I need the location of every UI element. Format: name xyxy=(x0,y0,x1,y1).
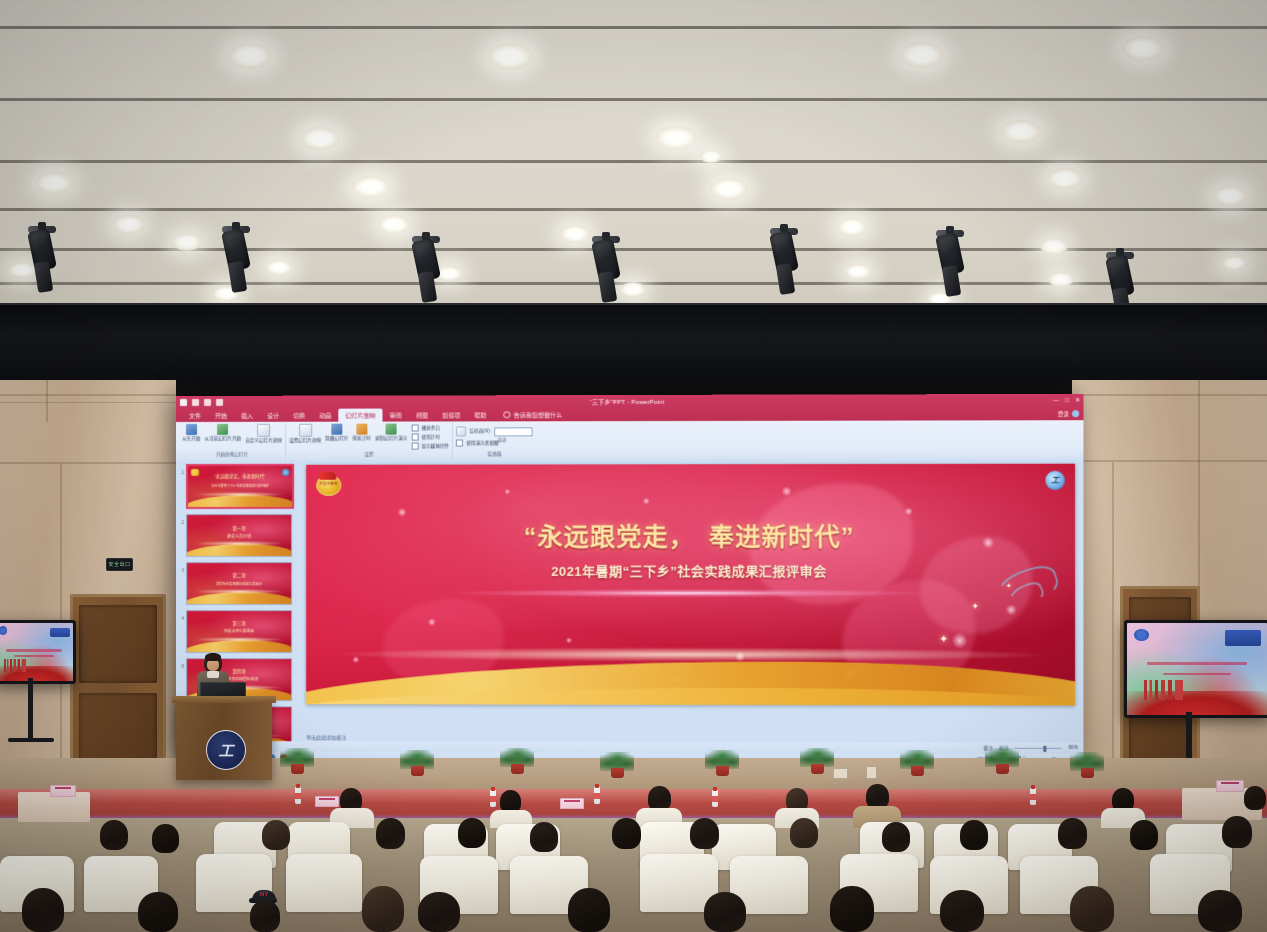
thumbnail-line2: 2021年暑期“三下乡”社会实践成果汇报评审会 xyxy=(192,484,288,488)
slide-thumbnail-2[interactable]: 第一项 参会人员介绍 xyxy=(186,514,292,557)
group-label-monitors: 监视器 xyxy=(487,451,501,457)
document-title: “三下乡”PPT - PowerPoint xyxy=(176,396,1083,407)
audience-head xyxy=(1058,818,1087,849)
play-from-current-label: 从当前幻灯片开始 xyxy=(204,436,241,441)
thumbnail-number: 1 xyxy=(178,464,184,475)
avatar[interactable] xyxy=(1072,410,1079,417)
tab-help[interactable]: 帮助 xyxy=(467,408,493,421)
ceiling-downlight xyxy=(266,260,292,275)
side-display-left-screen xyxy=(0,623,73,681)
lightbulb-icon xyxy=(503,411,510,418)
window-buttons[interactable]: — □ ✕ xyxy=(1053,397,1080,404)
checkbox-box[interactable] xyxy=(411,425,418,432)
podium-emblem-text: 工 xyxy=(218,740,233,761)
custom-show-button[interactable]: 自定义幻灯片放映 xyxy=(245,424,282,443)
audience-head xyxy=(704,892,746,932)
audience-head xyxy=(250,900,280,932)
water-bottle xyxy=(712,790,718,807)
side-display-right-stand xyxy=(1186,712,1192,764)
audience-head xyxy=(262,820,290,850)
podium: 工 xyxy=(176,700,272,780)
thumbnail-row[interactable]: 3 第二项 学院专业实践团队成果汇报展示 xyxy=(178,562,300,605)
university-logo-icon: 工 xyxy=(1045,471,1064,490)
podium-top xyxy=(172,696,276,703)
audience-head xyxy=(882,822,910,852)
audience-head xyxy=(1130,820,1158,850)
auditorium-photo: 安全出口 xyxy=(0,0,1267,932)
ceiling-downlight xyxy=(620,282,646,297)
wall-socket xyxy=(833,768,848,779)
tab-animations[interactable]: 动画 xyxy=(312,409,338,422)
checkbox-show-media-controls[interactable]: 显示媒体控件 xyxy=(411,443,449,450)
tab-review[interactable]: 审阅 xyxy=(383,408,409,421)
thumbnail-row[interactable]: 4 第三项 评委点评汇报成果 xyxy=(178,610,300,653)
audience-head xyxy=(362,886,404,932)
stage-spotlight xyxy=(412,232,442,310)
thumbnail-number: 4 xyxy=(178,610,184,621)
potted-plant xyxy=(800,748,834,774)
ceiling-downlight xyxy=(700,150,722,163)
audience-head xyxy=(458,818,486,848)
potted-plant xyxy=(280,748,314,774)
thumbnail-row[interactable]: 2 第一项 参会人员介绍 xyxy=(178,514,300,557)
custom-show-icon xyxy=(257,424,270,437)
ceiling-downlight xyxy=(35,172,73,194)
wall-socket xyxy=(866,766,877,779)
group-label-start-slideshow: 开始放映幻灯片 xyxy=(216,452,248,458)
presenter-collar xyxy=(207,671,219,678)
wall-left: 安全出口 xyxy=(0,380,176,780)
ceiling-downlight xyxy=(300,127,340,150)
record-slideshow-button[interactable]: 录制幻灯片演示 xyxy=(375,424,407,441)
play-from-start-icon xyxy=(186,424,197,435)
slide-thumbnail-3[interactable]: 第二项 学院专业实践团队成果汇报展示 xyxy=(186,562,292,605)
tab-file[interactable]: 文件 xyxy=(182,409,208,422)
monitor-label: 监视器(M): xyxy=(469,428,491,434)
group-label-setup: 设置 xyxy=(364,452,373,458)
audience-head xyxy=(940,890,984,932)
close-button[interactable]: ✕ xyxy=(1075,397,1080,404)
star-decoration-icon: ✦ xyxy=(971,601,979,612)
thumbnail-number: 5 xyxy=(178,658,184,669)
exit-sign-label: 安全出口 xyxy=(108,561,130,568)
notes-pane[interactable]: 单击此处添加备注 xyxy=(306,726,1075,742)
audience-head xyxy=(22,888,64,932)
tab-home[interactable]: 开始 xyxy=(208,409,234,422)
wall-right xyxy=(1072,380,1267,780)
ppt-workspace: 1 “永远跟党走，奉进新时代” 2021年暑期“三下乡”社会实践成果汇报评审会 … xyxy=(176,459,1083,762)
ceiling-downlight xyxy=(487,43,533,70)
water-bottle xyxy=(1030,788,1036,805)
powerpoint-window: “三下乡”PPT - PowerPoint — □ ✕ 文件 开始 插入 设计 … xyxy=(176,394,1083,762)
play-from-start-label: 从头开始 xyxy=(182,436,200,441)
thumbnail-line1: “永远跟党走，奉进新时代” xyxy=(194,474,286,480)
play-from-current-icon xyxy=(217,424,228,435)
audience-head xyxy=(152,824,179,853)
name-tent xyxy=(315,796,339,807)
ceiling-downlight xyxy=(655,126,697,150)
monitor-select[interactable]: 监视器(M): 自动 xyxy=(456,426,533,436)
checkbox-play-narrations[interactable]: 播放旁白 xyxy=(411,424,449,431)
name-tent xyxy=(50,785,76,797)
side-display-right xyxy=(1124,620,1267,718)
tab-transitions[interactable]: 切换 xyxy=(286,409,312,422)
record-slideshow-icon xyxy=(386,424,397,435)
hide-slide-icon xyxy=(331,424,342,435)
presenter-hair xyxy=(205,653,221,661)
side-display-right-screen xyxy=(1127,623,1267,715)
ribbon-group-start-slideshow: 从头开始 从当前幻灯片开始 自定义幻灯片放映 开始放映幻灯片 xyxy=(179,423,286,459)
potted-plant xyxy=(985,748,1019,774)
ceiling-downlight xyxy=(1122,36,1164,61)
audience-head xyxy=(790,818,818,848)
water-bottle xyxy=(490,790,496,807)
rehearse-timings-label: 排练计时 xyxy=(352,436,370,441)
ceiling-downlight xyxy=(1048,272,1074,287)
university-emblem-icon: 工 xyxy=(206,730,246,770)
tab-design[interactable]: 设计 xyxy=(260,409,286,422)
checkbox-show-media-controls-label: 显示媒体控件 xyxy=(421,443,449,449)
tab-insert[interactable]: 插入 xyxy=(234,409,260,422)
record-slideshow-label: 录制幻灯片演示 xyxy=(375,436,407,441)
slide-thumbnail-1[interactable]: “永远跟党走，奉进新时代” 2021年暑期“三下乡”社会实践成果汇报评审会 xyxy=(186,464,294,509)
audience-head xyxy=(1198,890,1242,932)
thumbnail-line1: 第三项 xyxy=(193,621,285,627)
tab-view[interactable]: 视图 xyxy=(409,408,435,421)
ceiling-downlight xyxy=(1040,238,1068,255)
audience-head xyxy=(138,892,178,932)
ceiling-downlight xyxy=(845,264,871,279)
potted-plant xyxy=(400,750,434,776)
slide-editing-area[interactable]: 中国共青团 工 “永远跟党走， 奉进新时代” 2021年暑期“三下乡”社会实践成… xyxy=(302,459,1083,762)
dark-band-above-screen xyxy=(0,305,1267,383)
audience-head xyxy=(1070,886,1114,932)
audience-head xyxy=(690,818,719,849)
ceiling-downlight xyxy=(1001,120,1041,143)
ceiling-downlight xyxy=(113,215,145,234)
thumbnail-row[interactable]: 1 “永远跟党走，奉进新时代” 2021年暑期“三下乡”社会实践成果汇报评审会 xyxy=(178,464,300,509)
thumbnail-number: 2 xyxy=(178,514,184,525)
thumbnail-line1: 第一项 xyxy=(193,526,285,532)
water-bottle xyxy=(295,787,301,804)
monitor-icon xyxy=(456,426,466,436)
current-slide[interactable]: 中国共青团 工 “永远跟党走， 奉进新时代” 2021年暑期“三下乡”社会实践成… xyxy=(306,464,1075,706)
checkbox-box[interactable] xyxy=(456,439,463,446)
checkbox-use-timings-label: 使用计时 xyxy=(421,434,440,440)
potted-plant xyxy=(1070,752,1104,778)
minimize-button[interactable]: — xyxy=(1053,397,1059,403)
tell-me-box[interactable]: 告诉我您想做什么 xyxy=(503,410,562,419)
emblem-text: 中国共青团 xyxy=(318,482,338,487)
cap-logo-icon: NY xyxy=(260,892,268,898)
checkbox-box[interactable] xyxy=(411,434,418,441)
exit-sign: 安全出口 xyxy=(106,558,133,571)
audience-head xyxy=(530,822,558,852)
thumbnail-line2: 参会人员介绍 xyxy=(191,534,287,540)
play-from-start-button[interactable]: 从头开始 xyxy=(182,424,200,441)
hide-slide-label: 隐藏幻灯片 xyxy=(325,436,348,441)
ceiling-downlight xyxy=(1213,186,1247,206)
led-screen: “三下乡”PPT - PowerPoint — □ ✕ 文件 开始 插入 设计 … xyxy=(176,396,1073,760)
water-bottle xyxy=(594,787,600,804)
checkbox-presenter-view-label: 使用演示者视图 xyxy=(466,440,498,446)
play-from-current-button[interactable]: 从当前幻灯片开始 xyxy=(204,424,241,441)
hide-slide-button[interactable]: 隐藏幻灯片 xyxy=(325,424,348,441)
audience-head xyxy=(612,818,641,849)
stage-spotlight xyxy=(770,224,800,302)
tell-me-label: 告诉我您想做什么 xyxy=(514,410,562,419)
ceiling xyxy=(0,0,1267,312)
slide-headline: “永远跟党走， 奉进新时代” xyxy=(337,517,1044,554)
slide-subtitle: 2021年暑期“三下乡”社会实践成果汇报评审会 xyxy=(337,560,1044,579)
audience-head xyxy=(568,888,610,932)
potted-plant xyxy=(705,750,739,776)
thumbnail-line1: 第二项 xyxy=(193,573,285,579)
audience-head xyxy=(376,818,405,849)
account-area[interactable]: 登录 xyxy=(1058,410,1079,418)
side-display-left-stand xyxy=(28,678,33,740)
potted-plant xyxy=(600,752,634,778)
ceiling-downlight xyxy=(900,42,944,68)
checkbox-play-narrations-label: 播放旁白 xyxy=(421,425,440,431)
ribbon[interactable]: 从头开始 从当前幻灯片开始 自定义幻灯片放映 开始放映幻灯片 xyxy=(176,420,1083,460)
ceiling-downlight xyxy=(710,178,748,200)
thumbnail-line2: 学院专业实践团队成果汇报展示 xyxy=(191,581,287,586)
ceiling-downlight xyxy=(172,233,202,251)
ceiling-downlight xyxy=(378,215,410,234)
audience-head xyxy=(100,820,128,850)
restore-button[interactable]: □ xyxy=(1065,397,1069,403)
rehearse-timings-button[interactable]: 排练计时 xyxy=(352,424,370,441)
checkbox-box[interactable] xyxy=(411,443,418,450)
stage-spotlight xyxy=(222,222,252,300)
audience-head xyxy=(418,892,460,932)
ceiling-downlight xyxy=(560,225,590,243)
name-tent xyxy=(560,798,584,809)
potted-plant xyxy=(500,748,534,774)
star-decoration-icon: ✦ xyxy=(939,633,948,646)
custom-show-label: 自定义幻灯片放映 xyxy=(245,438,282,443)
sign-in-label[interactable]: 登录 xyxy=(1058,410,1069,418)
audience-head xyxy=(1222,816,1252,848)
tab-addins[interactable]: 加载项 xyxy=(435,408,467,421)
side-display-left xyxy=(0,620,76,684)
setup-show-button[interactable]: 设置幻灯片放映 xyxy=(289,424,321,443)
audience-head xyxy=(960,820,988,850)
youth-league-emblem-icon: 中国共青团 xyxy=(315,472,341,494)
side-display-left-foot xyxy=(8,738,54,742)
stage-spotlight xyxy=(28,222,58,300)
audience-head xyxy=(1244,786,1266,810)
zoom-level[interactable]: 66% xyxy=(1068,746,1078,751)
ceiling-downlight xyxy=(228,43,272,69)
setup-show-icon xyxy=(299,424,312,437)
ribbon-group-setup: 设置幻灯片放映 隐藏幻灯片 排练计时 录制幻灯片演示 xyxy=(286,422,453,458)
stage-floor-reflection xyxy=(0,789,1267,803)
checkbox-use-timings[interactable]: 使用计时 xyxy=(411,433,449,440)
checkbox-presenter-view[interactable]: 使用演示者视图 xyxy=(456,439,533,446)
university-logo-text: 工 xyxy=(1051,475,1059,486)
thumbnail-line2: 评委点评汇报成果 xyxy=(191,629,287,634)
ribbon-group-monitors: 监视器(M): 自动 使用演示者视图 监视器 xyxy=(453,422,536,458)
ceiling-downlight xyxy=(837,218,867,236)
potted-plant xyxy=(900,750,934,776)
slide-thumbnail-4[interactable]: 第三项 评委点评汇报成果 xyxy=(186,610,292,653)
rehearse-timings-icon xyxy=(356,424,367,435)
audience-head xyxy=(830,886,874,932)
name-tent xyxy=(1216,780,1244,792)
monitor-dropdown[interactable]: 自动 xyxy=(494,427,532,436)
ceiling-downlight xyxy=(1047,168,1083,189)
zoom-slider[interactable] xyxy=(1015,748,1062,750)
stage-spotlight xyxy=(592,232,622,310)
setup-show-label: 设置幻灯片放映 xyxy=(289,438,321,443)
stage-spotlight xyxy=(936,226,966,304)
tab-slide-show[interactable]: 幻灯片放映 xyxy=(338,409,382,422)
thumbnail-number: 3 xyxy=(178,562,184,573)
ceiling-downlight xyxy=(1222,256,1246,270)
audience-chair xyxy=(286,854,362,912)
ceiling-downlight xyxy=(352,176,390,198)
